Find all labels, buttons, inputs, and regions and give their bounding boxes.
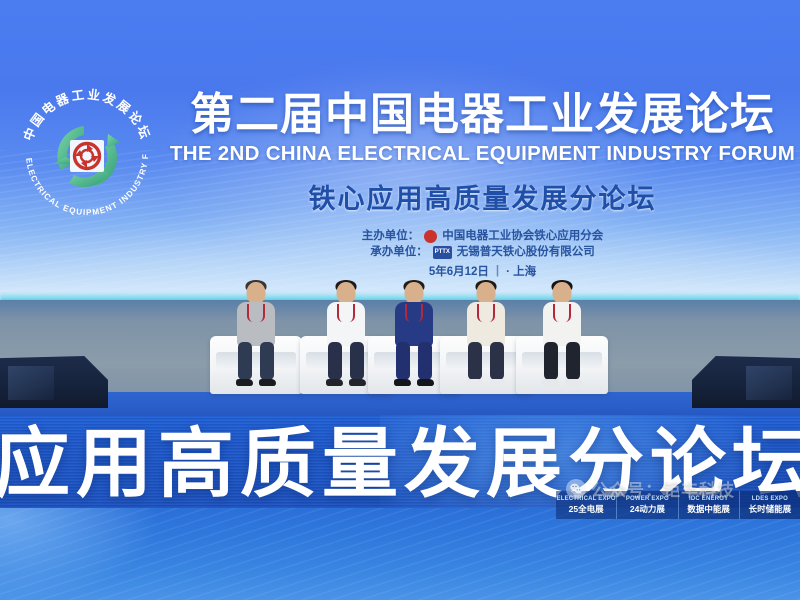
expo-item-top: LDES EXPO [752,496,788,502]
forum-subtitle-cn: 铁心应用高质量发展分论坛 [165,177,800,216]
headline-block: 第二届中国电器工业发展论坛 THE 2ND CHINA ELECTRICAL E… [165,92,800,216]
co-organizer-row: 承办单位： PTTX 无锡普天铁心股份有限公司 [165,244,800,260]
host-label: 主办单位： [362,228,420,244]
expo-item-bottom: 数据中能展 [687,503,730,515]
forum-circular-logo: 中国电器工业发展论坛 CHINA ELECTRICAL EQUIPMENT IN… [12,78,162,228]
host-name: 中国电器工业协会铁心应用分会 [442,228,603,244]
host-row: 主办单位： 中国电器工业协会铁心应用分会 [165,228,800,244]
foreground-screen [0,508,800,600]
panelist-5 [525,282,599,394]
expo-item: LDES EXPO 长时储能展 [740,491,800,519]
ceeia-mark-icon [424,230,437,243]
co-organizer-label: 承办单位： [370,244,428,260]
watermark: 公众号：钜丰科技 [566,476,735,501]
conference-photo: 中国电器工业发展论坛 CHINA ELECTRICAL EQUIPMENT IN… [0,0,800,600]
pttx-mark-icon: PTTX [433,246,452,259]
svg-text:中国电器工业发展论坛: 中国电器工业发展论坛 [20,87,154,143]
co-organizer-name: 无锡普天铁心股份有限公司 [457,244,595,260]
forum-title-en: THE 2ND CHINA ELECTRICAL EQUIPMENT INDUS… [165,142,800,166]
expo-item-bottom: 24动力展 [630,503,665,515]
panelist-1 [219,282,293,394]
panel-discussion-group [0,262,800,402]
expo-item-bottom: 25全电展 [569,503,604,515]
wechat-icon [566,479,586,499]
forum-title-cn: 第二届中国电器工业发展论坛 [165,92,800,138]
watermark-text: 公众号：钜丰科技 [591,476,735,501]
expo-item-bottom: 长时储能展 [749,503,792,515]
panelist-4 [449,282,523,394]
foreground-highlight [0,508,160,600]
